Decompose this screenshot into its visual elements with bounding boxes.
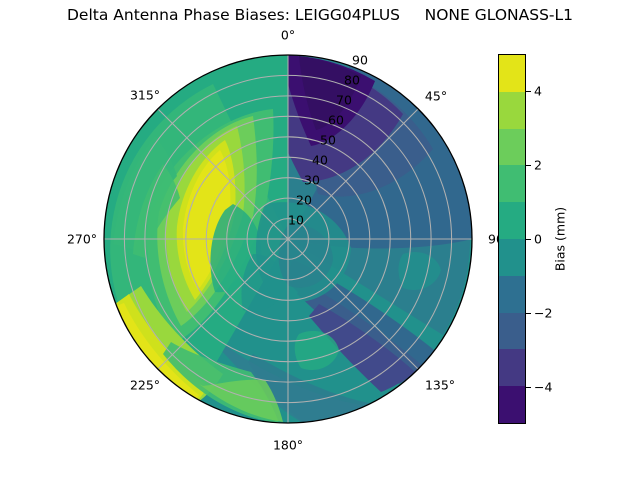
polar-plot-axes[interactable]: 0° 45° 90 135° 180° 225° 270° 315° 10 20… <box>103 54 473 424</box>
colorbar-tickmark-0 <box>526 239 531 240</box>
colorbar-tickmark-n4 <box>526 387 531 388</box>
colorbar[interactable]: 4 2 0 −2 −4 <box>498 54 526 424</box>
radial-label-80: 80 <box>344 73 360 88</box>
azimuth-label-270: 270° <box>67 232 97 247</box>
polar-grid-spokes <box>104 55 472 423</box>
azimuth-label-180: 180° <box>273 438 303 453</box>
radial-label-60: 60 <box>328 113 344 128</box>
colorbar-gradient <box>498 54 526 424</box>
colorbar-band-1 <box>499 349 525 386</box>
colorbar-band-3 <box>499 276 525 313</box>
colorbar-band-0 <box>499 386 525 423</box>
colorbar-band-5 <box>499 202 525 239</box>
colorbar-tickmark-2 <box>526 165 531 166</box>
colorbar-band-9 <box>499 55 525 92</box>
polar-contour-svg <box>103 54 473 424</box>
radial-label-20: 20 <box>296 193 312 208</box>
radial-label-10: 10 <box>288 213 304 228</box>
colorbar-band-4 <box>499 239 525 276</box>
radial-label-30: 30 <box>304 173 320 188</box>
colorbar-band-6 <box>499 165 525 202</box>
radial-label-50: 50 <box>320 133 336 148</box>
radial-label-90: 90 <box>352 53 368 68</box>
radial-label-70: 70 <box>336 93 352 108</box>
radial-label-40: 40 <box>312 153 328 168</box>
figure-canvas: Delta Antenna Phase Biases: LEIGG04PLUS … <box>0 0 640 480</box>
colorbar-ticklabel-n4: −4 <box>534 380 552 395</box>
azimuth-label-135: 135° <box>425 378 455 393</box>
colorbar-ticklabel-4: 4 <box>534 84 542 99</box>
page-title: Delta Antenna Phase Biases: LEIGG04PLUS … <box>0 6 640 24</box>
azimuth-label-0: 0° <box>281 28 295 43</box>
colorbar-band-2 <box>499 313 525 350</box>
colorbar-ticklabel-2: 2 <box>534 158 542 173</box>
colorbar-ticklabel-0: 0 <box>534 232 542 247</box>
azimuth-label-225: 225° <box>130 378 160 393</box>
colorbar-axis-label: Bias (mm) <box>553 207 568 271</box>
colorbar-tickmark-n2 <box>526 313 531 314</box>
colorbar-tickmark-4 <box>526 91 531 92</box>
colorbar-band-8 <box>499 92 525 129</box>
azimuth-label-315: 315° <box>130 88 160 103</box>
colorbar-ticklabel-n2: −2 <box>534 306 552 321</box>
colorbar-band-7 <box>499 129 525 166</box>
azimuth-label-45: 45° <box>425 89 447 104</box>
